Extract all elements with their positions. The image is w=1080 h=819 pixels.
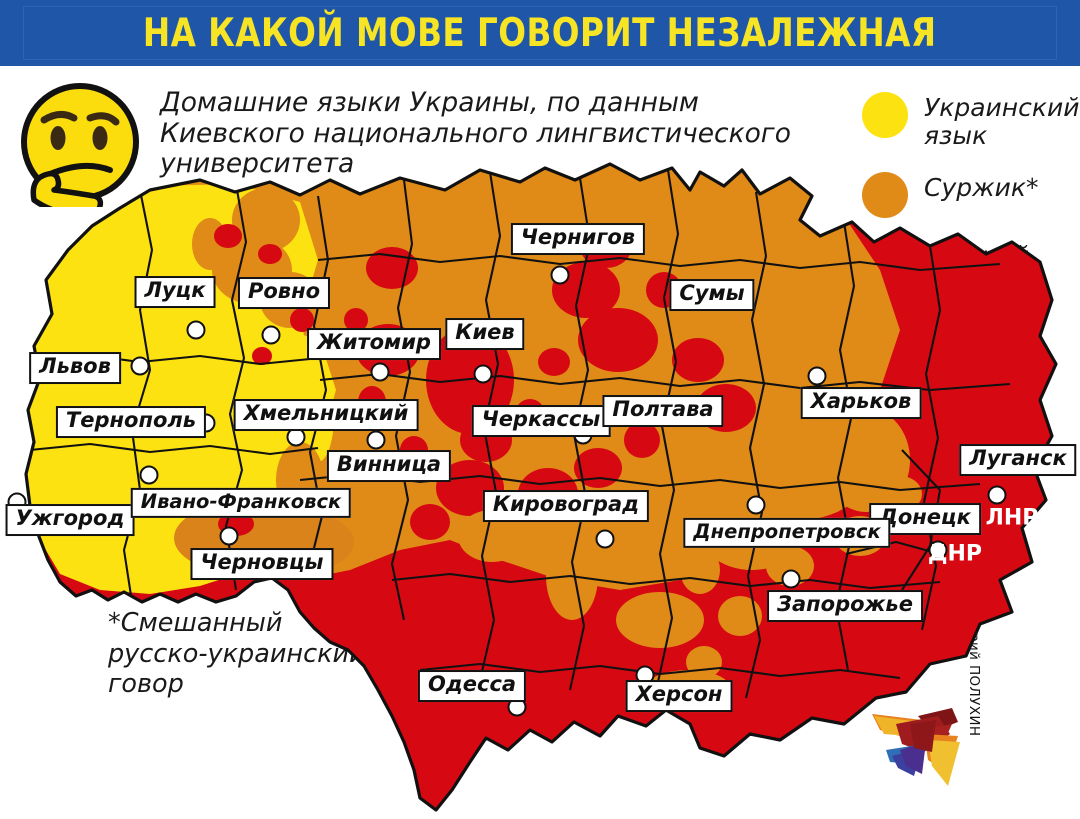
city-label[interactable]: Ровно xyxy=(238,277,330,309)
city-dot xyxy=(131,357,150,376)
city-label[interactable]: Винница xyxy=(327,450,451,482)
city-dot xyxy=(988,486,1007,505)
city-dot xyxy=(747,496,766,515)
city-dot xyxy=(474,365,493,384)
city-label[interactable]: Черновцы xyxy=(190,548,333,580)
subtitle-line-2: Киевского национального лингвистического xyxy=(160,119,860,150)
legend-swatch-ukrainian xyxy=(862,92,908,138)
legend-item-ukrainian: Украинский язык xyxy=(862,92,1077,150)
city-label[interactable]: Ивано-Франковск xyxy=(131,488,351,518)
city-dot xyxy=(551,266,570,285)
city-label[interactable]: Киев xyxy=(445,318,524,350)
republic-label: ДНР xyxy=(928,542,982,567)
city-dot xyxy=(596,530,615,549)
header-banner: НА КАКОЙ МОВЕ ГОВОРИТ НЕЗАЛЕЖНАЯ xyxy=(0,0,1080,66)
subtitle-line-1: Домашние языки Украины, по данным xyxy=(160,88,860,119)
city-dot xyxy=(262,326,281,345)
city-dot xyxy=(808,367,827,386)
swallow-bird-logo xyxy=(866,690,976,800)
republic-label: ЛНР xyxy=(986,506,1039,531)
city-dot xyxy=(187,321,206,340)
city-dot xyxy=(220,527,239,546)
city-label[interactable]: Луцк xyxy=(135,276,216,308)
city-dot xyxy=(782,570,801,589)
city-label[interactable]: Черкассы xyxy=(472,405,611,437)
city-label[interactable]: Полтава xyxy=(602,395,723,427)
city-label[interactable]: Харьков xyxy=(801,387,922,419)
city-label[interactable]: Хмельницкий xyxy=(234,399,419,431)
city-label[interactable]: Одесса xyxy=(418,670,526,702)
city-label[interactable]: Кировоград xyxy=(483,490,649,522)
city-dot xyxy=(367,431,386,450)
city-label[interactable]: Херсон xyxy=(626,680,733,712)
city-label[interactable]: Тернополь xyxy=(56,406,206,438)
page-title: НА КАКОЙ МОВЕ ГОВОРИТ НЕЗАЛЕЖНАЯ xyxy=(143,11,937,56)
city-label[interactable]: Днепропетровск xyxy=(683,518,890,548)
header-banner-inner: НА КАКОЙ МОВЕ ГОВОРИТ НЕЗАЛЕЖНАЯ xyxy=(23,6,1057,60)
city-dot xyxy=(140,466,159,485)
city-label[interactable]: Житомир xyxy=(307,328,441,360)
city-label[interactable]: Сумы xyxy=(669,279,754,311)
city-label[interactable]: Ужгород xyxy=(6,504,135,536)
legend-label-ukrainian: Украинский язык xyxy=(924,92,1079,150)
city-label[interactable]: Запорожье xyxy=(767,590,923,622)
city-label[interactable]: Чернигов xyxy=(511,223,645,255)
city-label[interactable]: Луганск xyxy=(959,444,1076,476)
city-label[interactable]: Львов xyxy=(29,352,121,384)
city-dot xyxy=(371,363,390,382)
